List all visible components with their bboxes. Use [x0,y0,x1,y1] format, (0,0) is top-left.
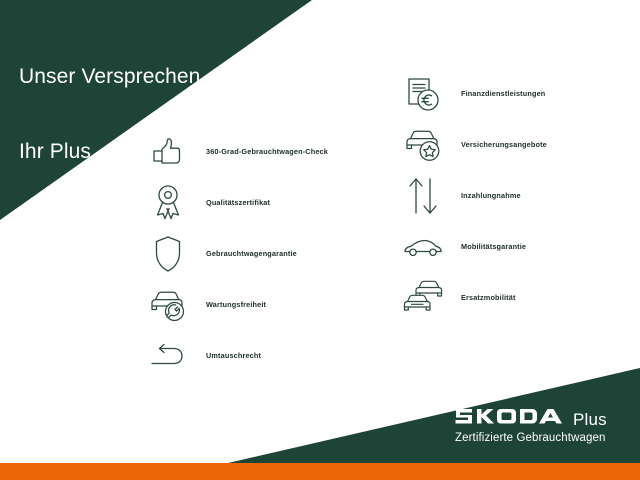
quality-rosette-icon [143,180,193,225]
feature-item-warranty[interactable]: Gebrauchtwagengarantie [143,228,393,279]
feature-label: Finanzdienstleistungen [461,89,545,98]
feature-list-left: 360-Grad-Gebrauchtwagen-Check Qualitätsz… [143,126,393,381]
orange-bar [0,463,640,480]
feature-label: Mobilitätsgarantie [461,242,526,251]
thumbs-up-icon [143,129,193,174]
feature-label: Inzahlungnahme [461,191,521,200]
document-euro-icon [398,71,448,116]
feature-label: Wartungsfreiheit [206,300,266,309]
feature-label: Gebrauchtwagengarantie [206,249,297,258]
feature-item-360-check[interactable]: 360-Grad-Gebrauchtwagen-Check [143,126,393,177]
feature-item-quality-certificate[interactable]: Qualitätszertifikat [143,177,393,228]
feature-label: Versicherungsangebote [461,140,547,149]
logo-row: Plus [455,405,607,428]
feature-item-insurance[interactable]: Versicherungsangebote [398,119,638,170]
shield-icon [143,231,193,276]
feature-list-right: Finanzdienstleistungen Versicherungsange… [398,68,638,323]
headline-line-1: Unser Versprechen. [19,64,319,89]
feature-label: Ersatzmobilität [461,293,516,302]
feature-label: 360-Grad-Gebrauchtwagen-Check [206,147,328,156]
skoda-wordmark-icon [455,405,567,425]
return-arrow-icon [143,333,193,378]
feature-item-financial-services[interactable]: Finanzdienstleistungen [398,68,638,119]
feature-item-replacement-mobility[interactable]: Ersatzmobilität [398,272,638,323]
feature-label: Umtauschrecht [206,351,261,360]
car-wrench-icon [143,282,193,327]
promo-banner: Unser Versprechen. Ihr Plus. 360-Grad-Ge… [0,0,640,480]
feature-label: Qualitätszertifikat [206,198,270,207]
car-side-icon [398,224,448,269]
feature-item-trade-in[interactable]: Inzahlungnahme [398,170,638,221]
car-star-icon [398,122,448,167]
skoda-plus-logo: Plus Zertifizierte Gebrauchtwagen [455,405,607,444]
logo-plus-text: Plus [573,411,607,428]
feature-item-return-right[interactable]: Umtauschrecht [143,330,393,381]
feature-item-maintenance[interactable]: Wartungsfreiheit [143,279,393,330]
up-down-arrows-icon [398,173,448,218]
feature-item-mobility-guarantee[interactable]: Mobilitätsgarantie [398,221,638,272]
two-cars-icon [398,275,448,320]
logo-subtitle: Zertifizierte Gebrauchtwagen [455,432,607,444]
